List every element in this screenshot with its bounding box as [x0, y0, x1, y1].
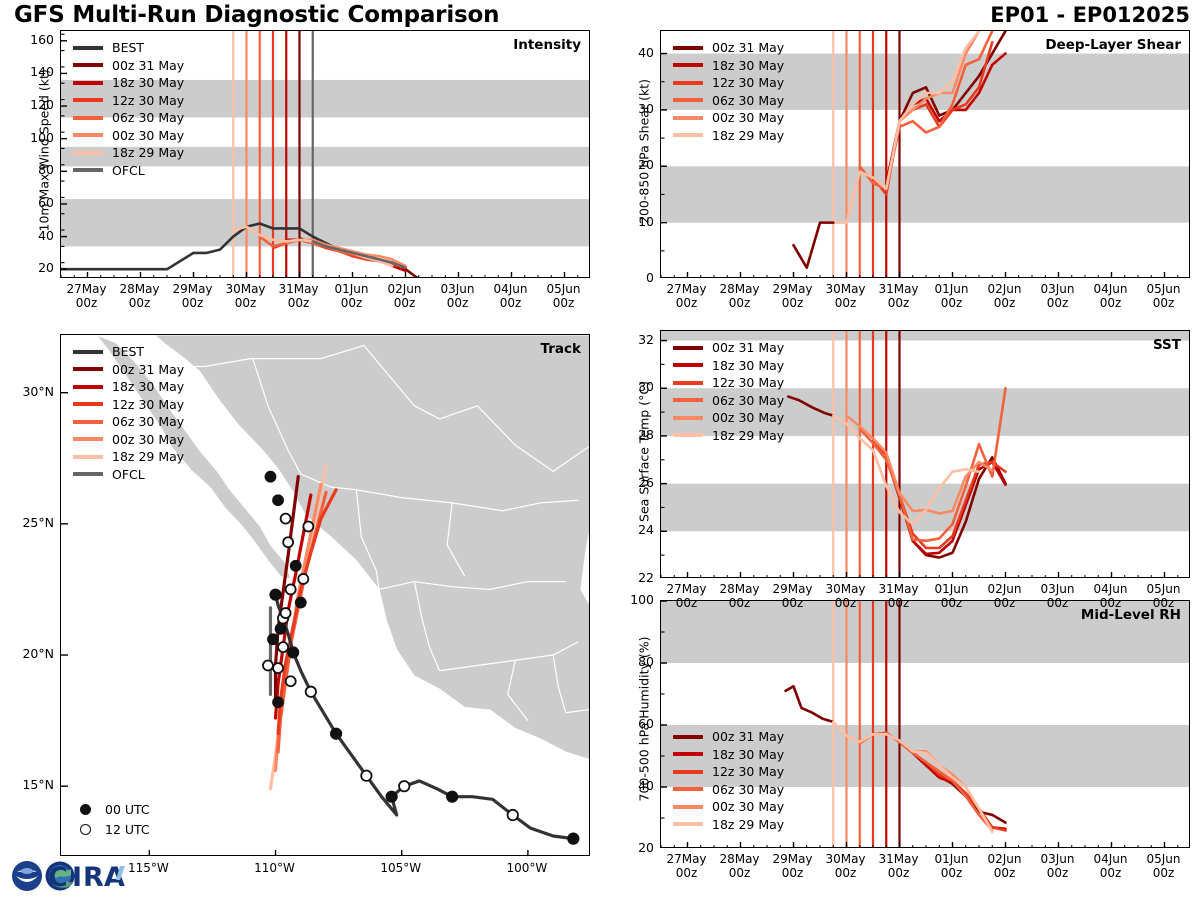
xtick-hour: 00z — [888, 596, 910, 610]
legend-label: 00z 30 May — [112, 128, 184, 143]
xtick-date: 04Jun — [1093, 852, 1127, 866]
legend-label: 06z 30 May — [712, 393, 784, 408]
rh-axes: Mid-Level RH00z 31 May18z 30 May12z 30 M… — [660, 600, 1190, 848]
open-circle-marker — [80, 824, 91, 835]
legend-item[interactable]: BEST — [73, 343, 184, 361]
legend-swatch — [673, 381, 703, 385]
xtick-date: 05Jun — [1146, 852, 1180, 866]
xtick-date: 28May — [719, 282, 759, 296]
track-ytick: 20°N — [2, 646, 54, 661]
xtick-date: 03Jun — [1040, 582, 1074, 596]
shear-ytick: 0 — [612, 270, 654, 285]
xtick-hour: 00z — [1100, 596, 1122, 610]
legend-item[interactable]: OFCL — [73, 466, 184, 484]
xtick-date: 27May — [666, 582, 706, 596]
legend-item[interactable]: 06z 30 May — [73, 413, 184, 431]
legend-swatch — [73, 472, 103, 476]
xtick-date: 03Jun — [1040, 852, 1074, 866]
track-ytick: 15°N — [2, 777, 54, 792]
legend-label: 06z 30 May — [112, 110, 184, 125]
legend-swatch — [73, 367, 103, 371]
xtick-date: 27May — [666, 282, 706, 296]
legend-item[interactable]: 18z 29 May — [73, 144, 184, 162]
legend-item[interactable]: 00z 30 May — [73, 431, 184, 449]
legend-swatch — [73, 402, 103, 406]
xtick-hour: 00z — [1100, 866, 1122, 880]
legend-label: 00z 31 May — [112, 362, 184, 377]
legend-item[interactable]: 18z 30 May — [73, 378, 184, 396]
legend-swatch — [673, 346, 703, 350]
xtick-date: 27May — [66, 282, 106, 296]
xtick-date: 02Jun — [987, 582, 1021, 596]
legend-label: 00z 31 May — [712, 40, 784, 55]
legend-item[interactable]: 06z 30 May — [673, 392, 784, 410]
legend-item[interactable]: 18z 30 May — [673, 746, 784, 764]
legend-swatch — [73, 81, 103, 85]
legend-label: BEST — [112, 344, 144, 359]
xtick-hour: 00z — [835, 866, 857, 880]
legend-swatch — [673, 822, 703, 826]
xtick-hour: 00z — [676, 296, 698, 310]
rh-ytick: 20 — [612, 840, 654, 855]
xtick-hour: 00z — [129, 296, 151, 310]
track-ytick: 25°N — [2, 515, 54, 530]
track-xtick: 115°W — [114, 861, 182, 875]
legend-swatch — [673, 787, 703, 791]
xtick-date: 05Jun — [1146, 282, 1180, 296]
xtick-date: 29May — [172, 282, 212, 296]
legend-label: 00z 31 May — [112, 58, 184, 73]
rh-xtick: 05Jun00z — [1130, 852, 1198, 880]
track-title: Track — [541, 341, 581, 357]
legend-item[interactable]: 00z 31 May — [73, 57, 184, 75]
legend-label: 00z 30 May — [112, 432, 184, 447]
legend-swatch — [673, 81, 703, 85]
shear-legend: 00z 31 May18z 30 May12z 30 May06z 30 May… — [673, 39, 784, 144]
xtick-date: 03Jun — [440, 282, 474, 296]
xtick-hour: 00z — [394, 296, 416, 310]
legend-item[interactable]: 18z 29 May — [673, 816, 784, 834]
legend-label: 12z 30 May — [112, 93, 184, 108]
legend-label: 00z 31 May — [712, 729, 784, 744]
legend-item[interactable]: 12z 30 May — [673, 74, 784, 92]
xtick-hour: 00z — [235, 296, 257, 310]
rh-ylabel: 700-500 hPa Humidity (%) — [637, 642, 652, 802]
xtick-hour: 00z — [1047, 296, 1069, 310]
sst-ylabel: Sea Surface Temp (°C) — [637, 372, 652, 532]
svg-text:I: I — [72, 862, 82, 893]
xtick-date: 29May — [772, 582, 812, 596]
legend-item[interactable]: BEST — [73, 39, 184, 57]
xtick-hour: 00z — [941, 866, 963, 880]
xtick-hour: 00z — [182, 296, 204, 310]
intensity-xtick: 05Jun00z — [530, 282, 598, 310]
xtick-date: 02Jun — [987, 282, 1021, 296]
legend-swatch — [673, 398, 703, 402]
xtick-hour: 00z — [1153, 866, 1175, 880]
legend-item[interactable]: 06z 30 May — [673, 781, 784, 799]
legend-label: 18z 30 May — [112, 379, 184, 394]
marker-legend-item: 12 UTC — [71, 819, 150, 839]
legend-item[interactable]: 00z 31 May — [673, 728, 784, 746]
legend-label: 18z 29 May — [112, 449, 184, 464]
xtick-hour: 00z — [1100, 296, 1122, 310]
legend-item[interactable]: 06z 30 May — [73, 109, 184, 127]
xtick-date: 05Jun — [546, 282, 580, 296]
xtick-hour: 00z — [1047, 866, 1069, 880]
legend-item[interactable]: 12z 30 May — [673, 763, 784, 781]
xtick-date: 30May — [825, 582, 865, 596]
legend-item[interactable]: 00z 31 May — [673, 339, 784, 357]
legend-swatch — [73, 350, 103, 354]
xtick-hour: 00z — [994, 596, 1016, 610]
legend-label: 00z 30 May — [712, 799, 784, 814]
shear-xtick: 05Jun00z — [1130, 282, 1198, 310]
intensity-axes: IntensityBEST00z 31 May18z 30 May12z 30 … — [60, 30, 590, 278]
xtick-hour: 00z — [288, 296, 310, 310]
legend-label: OFCL — [112, 163, 145, 178]
legend-label: 06z 30 May — [112, 414, 184, 429]
sst-legend: 00z 31 May18z 30 May12z 30 May06z 30 May… — [673, 339, 784, 444]
legend-label: 18z 30 May — [112, 75, 184, 90]
rh-ytick: 100 — [612, 592, 654, 607]
xtick-hour: 00z — [500, 296, 522, 310]
legend-swatch — [673, 133, 703, 137]
legend-item[interactable]: 00z 31 May — [73, 361, 184, 379]
legend-swatch — [73, 168, 103, 172]
legend-swatch — [673, 433, 703, 437]
xtick-date: 03Jun — [1040, 282, 1074, 296]
legend-label: 12z 30 May — [712, 375, 784, 390]
xtick-date: 01Jun — [934, 852, 968, 866]
shear-ylabel: 200-850 hPa Shear (kt) — [637, 72, 652, 232]
legend-item[interactable]: 06z 30 May — [673, 92, 784, 110]
shear-title: Deep-Layer Shear — [1045, 37, 1181, 53]
xtick-date: 04Jun — [493, 282, 527, 296]
track-xtick: 100°W — [493, 861, 561, 875]
legend-swatch — [673, 98, 703, 102]
panel-intensity: IntensityBEST00z 31 May18z 30 May12z 30 … — [60, 30, 590, 278]
legend-swatch — [673, 752, 703, 756]
track-axes: TrackBEST00z 31 May18z 30 May12z 30 May0… — [60, 334, 590, 856]
legend-label: 18z 29 May — [712, 128, 784, 143]
xtick-hour: 00z — [553, 296, 575, 310]
xtick-hour: 00z — [835, 296, 857, 310]
xtick-date: 04Jun — [1093, 582, 1127, 596]
xtick-date: 28May — [719, 582, 759, 596]
xtick-hour: 00z — [782, 296, 804, 310]
legend-label: 18z 30 May — [712, 358, 784, 373]
legend-item[interactable]: 18z 30 May — [73, 74, 184, 92]
legend-swatch — [73, 385, 103, 389]
xtick-date: 28May — [719, 852, 759, 866]
xtick-date: 01Jun — [934, 582, 968, 596]
xtick-date: 30May — [825, 282, 865, 296]
marker-legend: 00 UTC12 UTC — [71, 799, 150, 839]
legend-swatch — [73, 46, 103, 50]
intensity-title: Intensity — [513, 37, 581, 53]
xtick-date: 31May — [878, 852, 918, 866]
xtick-date: 01Jun — [934, 282, 968, 296]
legend-swatch — [73, 420, 103, 424]
legend-swatch — [73, 98, 103, 102]
legend-item[interactable]: 00z 30 May — [673, 409, 784, 427]
xtick-hour: 00z — [888, 296, 910, 310]
legend-label: 12z 30 May — [112, 397, 184, 412]
legend-label: 18z 30 May — [712, 58, 784, 73]
xtick-date: 01Jun — [334, 282, 368, 296]
xtick-hour: 00z — [941, 296, 963, 310]
xtick-date: 05Jun — [1146, 582, 1180, 596]
xtick-date: 29May — [772, 282, 812, 296]
legend-label: 18z 29 May — [112, 145, 184, 160]
xtick-hour: 00z — [729, 866, 751, 880]
marker-legend-item: 00 UTC — [71, 799, 150, 819]
legend-swatch — [673, 46, 703, 50]
legend-swatch — [673, 805, 703, 809]
legend-item[interactable]: 12z 30 May — [73, 396, 184, 414]
legend-swatch — [73, 437, 103, 441]
panel-shear: Deep-Layer Shear00z 31 May18z 30 May12z … — [660, 30, 1190, 278]
shear-ytick: 40 — [612, 45, 654, 60]
xtick-hour: 00z — [1153, 596, 1175, 610]
legend-item[interactable]: 18z 29 May — [673, 127, 784, 145]
xtick-date: 31May — [878, 282, 918, 296]
xtick-date: 27May — [666, 852, 706, 866]
track-xtick: 105°W — [367, 861, 435, 875]
sst-ytick: 22 — [612, 570, 654, 585]
legend-item[interactable]: OFCL — [73, 162, 184, 180]
page-title: GFS Multi-Run Diagnostic Comparison — [14, 2, 499, 28]
svg-text:C: C — [48, 862, 68, 893]
xtick-date: 30May — [225, 282, 265, 296]
legend-swatch — [73, 63, 103, 67]
legend-swatch — [73, 116, 103, 120]
legend-swatch — [673, 116, 703, 120]
legend-item[interactable]: 18z 30 May — [673, 57, 784, 75]
xtick-hour: 00z — [676, 596, 698, 610]
xtick-date: 02Jun — [987, 852, 1021, 866]
legend-swatch — [73, 151, 103, 155]
legend-label: 12z 30 May — [712, 75, 784, 90]
legend-label: 00z 30 May — [712, 110, 784, 125]
track-ytick: 30°N — [2, 384, 54, 399]
legend-swatch — [673, 735, 703, 739]
legend-label: 12z 30 May — [712, 764, 784, 779]
legend-item[interactable]: 12z 30 May — [673, 374, 784, 392]
xtick-date: 31May — [278, 282, 318, 296]
panel-track: TrackBEST00z 31 May18z 30 May12z 30 May0… — [60, 334, 590, 856]
legend-swatch — [673, 363, 703, 367]
legend-item[interactable]: 18z 29 May — [73, 448, 184, 466]
legend-item[interactable]: 00z 30 May — [73, 127, 184, 145]
xtick-date: 04Jun — [1093, 282, 1127, 296]
xtick-date: 29May — [772, 852, 812, 866]
legend-item[interactable]: 18z 30 May — [673, 357, 784, 375]
xtick-hour: 00z — [676, 866, 698, 880]
xtick-hour: 00z — [341, 296, 363, 310]
xtick-hour: 00z — [1153, 296, 1175, 310]
panel-rh: Mid-Level RH00z 31 May18z 30 May12z 30 M… — [660, 600, 1190, 848]
legend-label: BEST — [112, 40, 144, 55]
sst-ytick: 32 — [612, 332, 654, 347]
xtick-date: 02Jun — [387, 282, 421, 296]
xtick-hour: 00z — [729, 596, 751, 610]
intensity-ytick: 20 — [12, 260, 54, 275]
legend-swatch — [673, 63, 703, 67]
legend-label: 18z 30 May — [712, 747, 784, 762]
shear-axes: Deep-Layer Shear00z 31 May18z 30 May12z … — [660, 30, 1190, 278]
storm-id-label: EP01 - EP012025 — [990, 3, 1190, 27]
xtick-date: 31May — [878, 582, 918, 596]
xtick-hour: 00z — [1047, 596, 1069, 610]
intensity-legend: BEST00z 31 May18z 30 May12z 30 May06z 30… — [73, 39, 184, 179]
filled-circle-marker — [80, 804, 91, 815]
legend-label: 06z 30 May — [712, 93, 784, 108]
track-xtick: 110°W — [241, 861, 309, 875]
page-header: GFS Multi-Run Diagnostic Comparison EP01… — [0, 0, 1200, 30]
legend-label: 00z 30 May — [712, 410, 784, 425]
panel-sst: SST00z 31 May18z 30 May12z 30 May06z 30 … — [660, 330, 1190, 578]
xtick-date: 30May — [825, 852, 865, 866]
xtick-hour: 00z — [782, 866, 804, 880]
legend-swatch — [73, 133, 103, 137]
legend-label: 18z 29 May — [712, 817, 784, 832]
xtick-hour: 00z — [447, 296, 469, 310]
legend-item[interactable]: 18z 29 May — [673, 427, 784, 445]
intensity-ylabel: 10m Max Wind Speed (kt) — [37, 72, 52, 232]
legend-label: OFCL — [112, 467, 145, 482]
marker-legend-label: 12 UTC — [105, 822, 150, 837]
sst-title: SST — [1153, 337, 1181, 353]
sst-axes: SST00z 31 May18z 30 May12z 30 May06z 30 … — [660, 330, 1190, 578]
svg-text:R: R — [83, 862, 104, 893]
legend-label: 18z 29 May — [712, 428, 784, 443]
xtick-hour: 00z — [994, 866, 1016, 880]
legend-swatch — [73, 455, 103, 459]
xtick-hour: 00z — [835, 596, 857, 610]
xtick-hour: 00z — [941, 596, 963, 610]
rh-legend: 00z 31 May18z 30 May12z 30 May06z 30 May… — [673, 728, 784, 833]
xtick-hour: 00z — [888, 866, 910, 880]
track-legend: BEST00z 31 May18z 30 May12z 30 May06z 30… — [73, 343, 184, 483]
legend-item[interactable]: 00z 31 May — [673, 39, 784, 57]
marker-legend-label: 00 UTC — [105, 802, 150, 817]
legend-item[interactable]: 12z 30 May — [73, 92, 184, 110]
xtick-hour: 00z — [76, 296, 98, 310]
sst-xtick: 05Jun00z — [1130, 582, 1198, 610]
legend-label: 00z 31 May — [712, 340, 784, 355]
legend-swatch — [673, 770, 703, 774]
xtick-hour: 00z — [782, 596, 804, 610]
xtick-hour: 00z — [729, 296, 751, 310]
legend-item[interactable]: 00z 30 May — [673, 109, 784, 127]
legend-item[interactable]: 00z 30 May — [673, 798, 784, 816]
xtick-date: 28May — [119, 282, 159, 296]
legend-label: 06z 30 May — [712, 782, 784, 797]
xtick-hour: 00z — [994, 296, 1016, 310]
intensity-ytick: 160 — [12, 32, 54, 47]
legend-swatch — [673, 416, 703, 420]
